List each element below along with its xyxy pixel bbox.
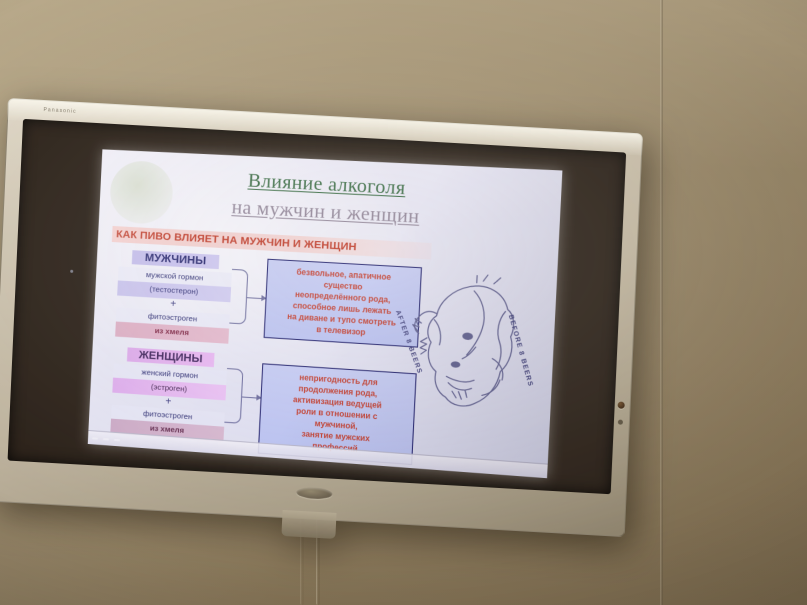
- group-women-brace: [224, 368, 243, 424]
- group-men-result-l1: безвольное, апатичное: [296, 267, 391, 282]
- wall-seam: [660, 0, 663, 605]
- taskbar-item[interactable]: [114, 438, 120, 440]
- group-men-result-l6: в телевизор: [316, 325, 366, 337]
- tv-wall-mount: [281, 510, 336, 539]
- group-women-tag: ЖЕНЩИНЫ: [127, 347, 215, 367]
- taskbar-item[interactable]: [103, 438, 109, 440]
- group-men-tag: МУЖЧИНЫ: [132, 250, 220, 269]
- group-men-arrow: [247, 297, 266, 300]
- taskbar-item[interactable]: [92, 437, 98, 439]
- group-men: МУЖЧИНЫ мужской гормон (тестостерон) + ф…: [111, 249, 237, 343]
- slide-title-line1: Влияние алкоголя: [247, 170, 406, 200]
- group-men-result-box: безвольное, апатичное существо неопредел…: [264, 259, 422, 348]
- group-men-brace: [229, 269, 248, 325]
- slide-title: Влияние алкоголя на мужчин и женщин: [99, 163, 561, 236]
- tv-screen-frame: Влияние алкоголя на мужчин и женщин КАК …: [8, 119, 627, 494]
- wall-mounted-television: Panasonic Влияние алкоголя на мужчин и ж…: [0, 98, 643, 537]
- group-women: ЖЕНЩИНЫ женский гормон (эстроген) + фито…: [106, 346, 232, 441]
- group-men-result-l2: существо: [323, 280, 362, 291]
- screen-dust-speck: [70, 270, 73, 273]
- presentation-slide: Влияние алкоголя на мужчин и женщин КАК …: [88, 149, 563, 478]
- room-scene: Panasonic Влияние алкоголя на мужчин и ж…: [0, 0, 807, 605]
- group-women-result-l5: мужчиной,: [314, 419, 357, 431]
- group-women-arrow: [242, 396, 261, 399]
- two-faced-head-sketch: AFTER 8 BEERS BEFORE 8 BEERS: [396, 266, 550, 451]
